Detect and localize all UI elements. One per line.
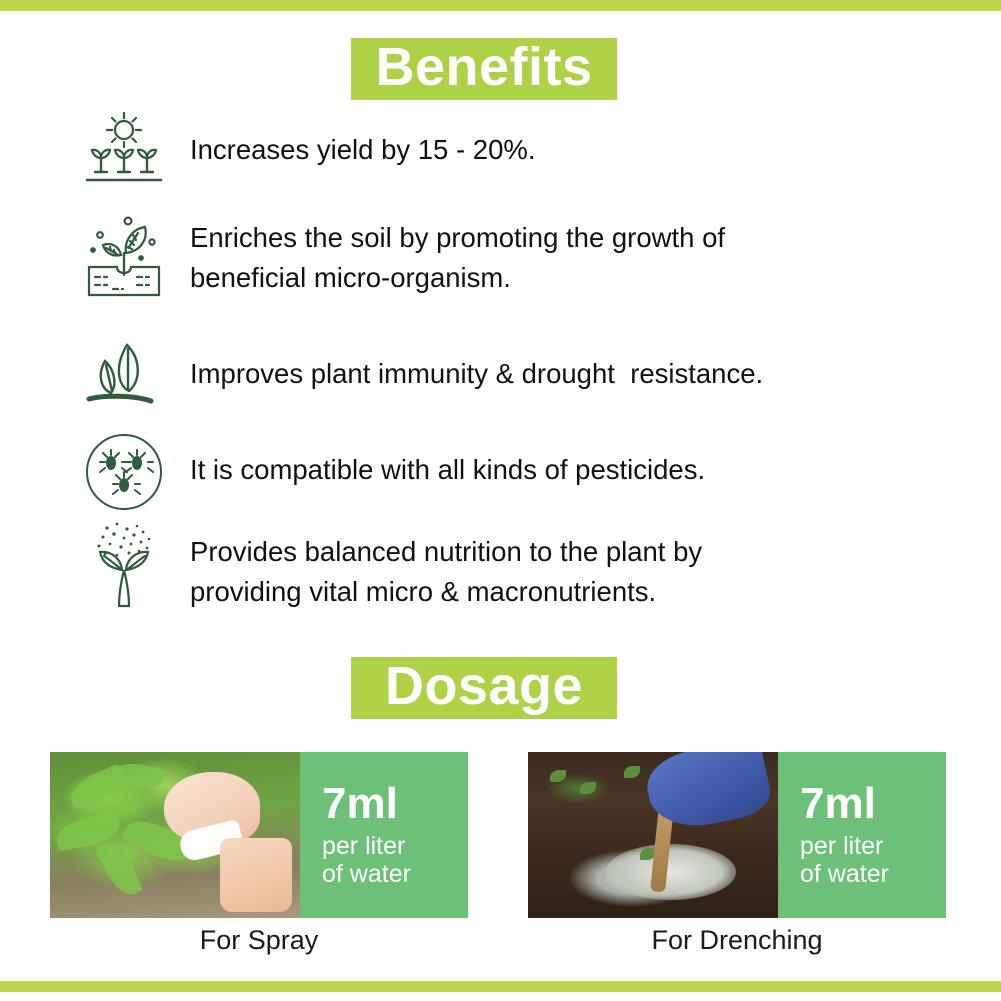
water-puddle: [606, 844, 736, 900]
benefit-text: Provides balanced nutrition to the plant…: [172, 522, 702, 612]
sun-over-seedlings-icon: [76, 106, 172, 194]
benefit-item: Enriches the soil by promoting the growt…: [76, 210, 946, 320]
benefit-text: Improves plant immunity & drought resist…: [172, 332, 763, 394]
dosage-panel-drenching: 7ml per liter of water: [778, 752, 946, 918]
two-leaves-on-ground-icon: [76, 332, 172, 420]
benefit-item: It is compatible with all kinds of pesti…: [76, 428, 946, 510]
benefits-list: Increases yield by 15 - 20%.: [76, 106, 946, 644]
dosage-card-spray: 7ml per liter of water: [50, 752, 468, 918]
dosage-cards: 7ml per liter of water 7ml per liter of …: [50, 752, 952, 920]
benefits-title-banner: Benefits: [351, 38, 617, 100]
benefit-text: It is compatible with all kinds of pesti…: [172, 428, 705, 490]
dosage-caption-spray: For Spray: [50, 925, 468, 956]
top-accent-stripe: [0, 0, 1001, 11]
benefit-item: Improves plant immunity & drought resist…: [76, 332, 946, 416]
sprout-with-nutrients-icon: [76, 522, 172, 610]
benefits-title: Benefits: [375, 40, 592, 98]
dosage-caption-drenching: For Drenching: [528, 925, 946, 956]
dosage-amount: 7ml: [800, 782, 946, 826]
plant-in-soil-with-water-icon: [76, 210, 172, 298]
hand-spraying-plants-photo: [50, 752, 300, 918]
spray-bottle: [220, 838, 292, 912]
infographic-page: Benefits Increase: [0, 0, 1001, 1001]
dosage-card-drenching: 7ml per liter of water: [528, 752, 946, 918]
dosage-sub: per liter of water: [322, 832, 468, 888]
benefit-text: Increases yield by 15 - 20%.: [172, 106, 535, 170]
dosage-title: Dosage: [385, 659, 583, 717]
bottom-accent-stripe: [0, 981, 1001, 992]
benefit-item: Provides balanced nutrition to the plant…: [76, 522, 946, 632]
dosage-captions: For Spray For Drenching: [50, 925, 952, 965]
benefit-text: Enriches the soil by promoting the growt…: [172, 210, 725, 298]
dosage-panel-spray: 7ml per liter of water: [300, 752, 468, 918]
insects-in-circle-icon: [76, 428, 172, 516]
dosage-sub: per liter of water: [800, 832, 946, 888]
dosage-amount: 7ml: [322, 782, 468, 826]
benefit-item: Increases yield by 15 - 20%.: [76, 106, 946, 198]
watering-can-drenching-soil-photo: [528, 752, 778, 918]
dosage-title-banner: Dosage: [351, 657, 617, 719]
